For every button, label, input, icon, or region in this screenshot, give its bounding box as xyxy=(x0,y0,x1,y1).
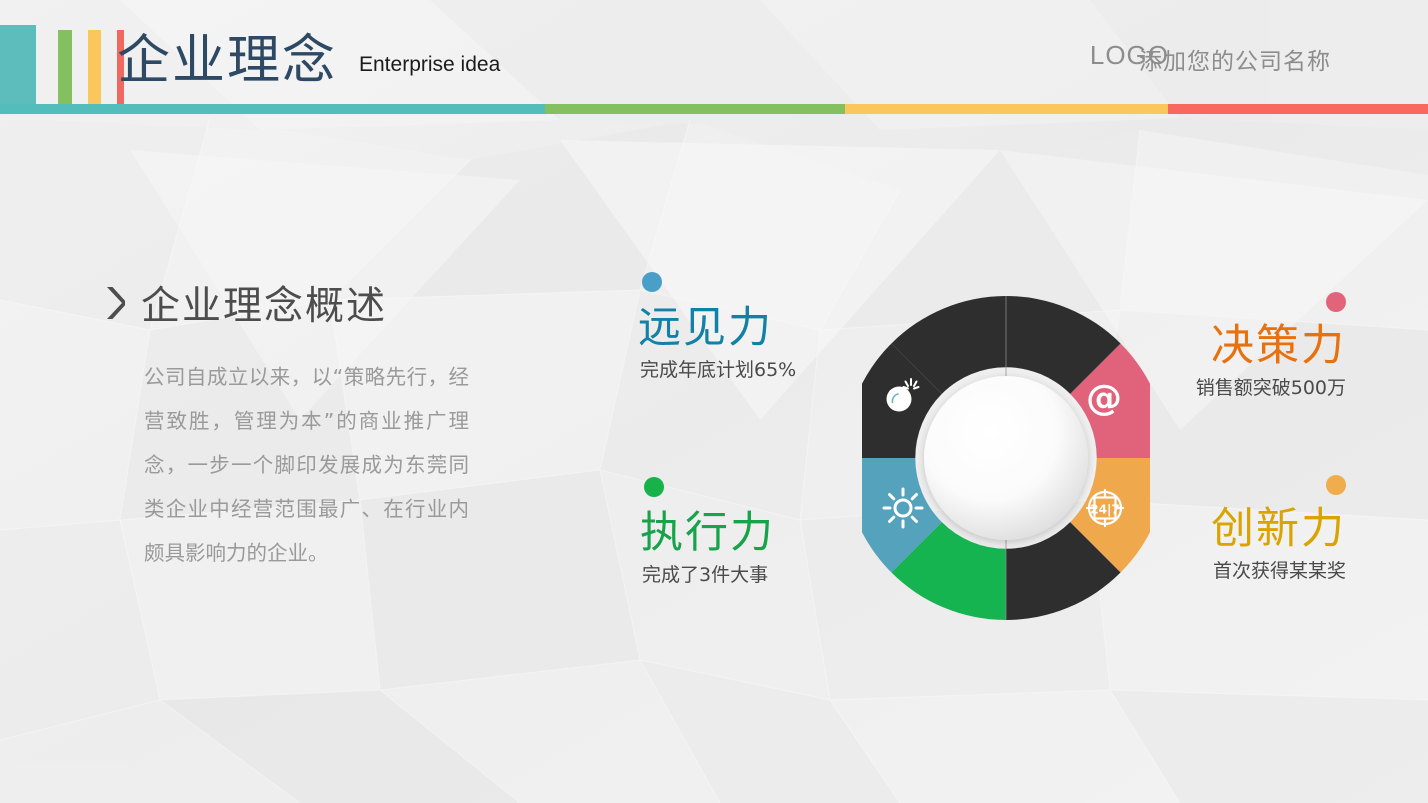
header-strip-yellow xyxy=(88,30,101,110)
divider-segment-yellow xyxy=(845,104,1168,114)
slide-canvas: 企业理念 Enterprise idea LOGO 添加您的公司名称 企业理念概… xyxy=(0,0,1428,803)
callout-title-execution: 执行力 xyxy=(640,511,775,556)
callout-dot-vision xyxy=(642,272,662,292)
callout-dot-innovation xyxy=(1326,475,1346,495)
page-subtitle: Enterprise idea xyxy=(359,53,500,77)
callout-title-innovation: 创新力 xyxy=(1211,507,1346,552)
overview-body-text: 公司自成立以来，以“策略先行，经营致胜，管理为本”的商业推广理念，一步一个脚印发… xyxy=(144,355,469,575)
callout-execution[interactable]: 执行力 完成了3件大事 xyxy=(640,477,775,587)
chevron-right-icon xyxy=(105,286,125,320)
overview-panel: 企业理念概述 公司自成立以来，以“策略先行，经营致胜，管理为本”的商业推广理念，… xyxy=(105,275,505,575)
callout-subtitle-innovation: 首次获得某某奖 xyxy=(1211,556,1346,583)
callout-subtitle-execution: 完成了3件大事 xyxy=(642,560,775,587)
callout-dot-execution xyxy=(644,477,664,497)
company-name-placeholder: 添加您的公司名称 xyxy=(1139,42,1331,76)
divider-segment-teal xyxy=(0,104,545,114)
overview-title: 企业理念概述 xyxy=(141,275,387,331)
page-title: 企业理念 xyxy=(117,18,337,94)
callout-title-vision: 远见力 xyxy=(638,306,796,351)
header-divider-bar xyxy=(0,104,1428,114)
header-strip-green xyxy=(58,30,72,110)
callout-innovation[interactable]: 创新力 首次获得某某奖 xyxy=(1211,475,1346,583)
overview-heading-row: 企业理念概述 xyxy=(105,275,505,331)
header-strip-teal xyxy=(0,25,36,111)
donut-chart[interactable]: @ 24|7 xyxy=(862,294,1150,622)
callout-subtitle-decision: 销售额突破500万 xyxy=(1196,373,1346,400)
divider-segment-green xyxy=(545,104,845,114)
slide-header: 企业理念 Enterprise idea LOGO 添加您的公司名称 xyxy=(0,0,1428,118)
callout-dot-decision xyxy=(1326,292,1346,312)
callout-title-decision: 决策力 xyxy=(1196,324,1346,369)
callout-subtitle-vision: 完成年底计划65% xyxy=(640,355,796,382)
donut-center-hub xyxy=(924,376,1088,540)
donut-chart-svg xyxy=(862,294,1150,622)
callout-vision[interactable]: 远见力 完成年底计划65% xyxy=(638,272,796,382)
divider-segment-red xyxy=(1168,104,1428,114)
callout-decision[interactable]: 决策力 销售额突破500万 xyxy=(1196,292,1346,400)
